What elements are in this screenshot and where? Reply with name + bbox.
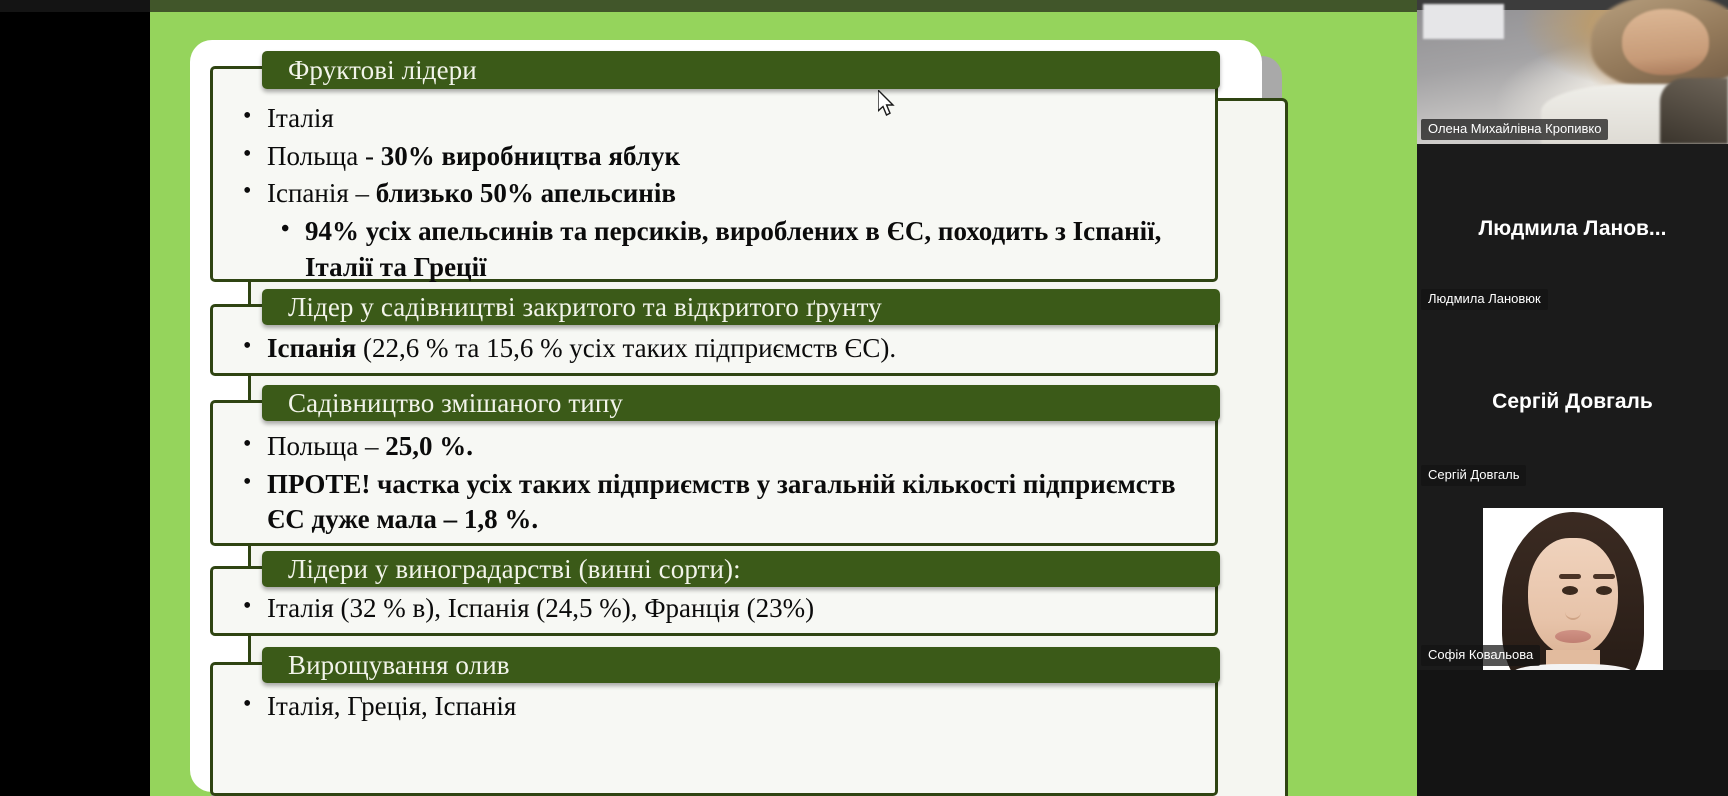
section-heading-band-1: Фруктові лідери (262, 51, 1220, 89)
video-tile-4[interactable]: Софія Ковальова (1417, 490, 1728, 670)
section-heading-label: Вирощування олив (288, 652, 510, 679)
list-item: Іспанія (22,6 % та 15,6 % усіх таких під… (233, 331, 1197, 367)
participant-name-label: Сергій Довгаль (1421, 465, 1526, 486)
bullet-list-3: Польща – 25,0 %. ПРОТЕ! частка усіх таки… (233, 429, 1197, 538)
section-heading-band-5: Вирощування олив (262, 647, 1220, 683)
participant-name-label: Людмила Лановюк (1421, 289, 1548, 310)
section-body-1: Італія Польща - 30% виробництва яблук Іс… (210, 66, 1218, 282)
left-black-gutter (0, 0, 150, 796)
section-heading-band-4: Лідери у виноградарстві (винні сорти): (262, 551, 1220, 587)
screen-root: Італія Польща - 30% виробництва яблук Іс… (0, 0, 1728, 796)
video-participant-rail: Олена Михайлівна Кропивко Людмила Ланов.… (1417, 0, 1728, 796)
section-heading-band-2: Лідер у садівництві закритого та відкрит… (262, 289, 1220, 325)
avatar-eye-left (1562, 586, 1578, 595)
list-item: ПРОТЕ! частка усіх таких підприємств у з… (233, 467, 1197, 538)
section-heading-label: Лідер у садівництві закритого та відкрит… (288, 294, 882, 321)
video-tile-3[interactable]: Сергій Довгаль Сергій Довгаль (1417, 314, 1728, 490)
bullet-list-1: Італія Польща - 30% виробництва яблук Іс… (233, 101, 1197, 285)
video-tile-1[interactable]: Олена Михайлівна Кропивко (1417, 0, 1728, 144)
list-item: Італія (233, 101, 1197, 137)
list-item: Іспанія – близько 50% апельсинів (233, 176, 1197, 212)
participant-name-label: Олена Михайлівна Кропивко (1421, 119, 1608, 140)
section-heading-label: Фруктові лідери (288, 57, 477, 84)
avatar-eyebrow-right (1593, 574, 1615, 579)
slide-content-blocks: Італія Польща - 30% виробництва яблук Іс… (150, 0, 1417, 796)
left-gutter-top-strip (0, 0, 150, 12)
list-item: Польща - 30% виробництва яблук (233, 139, 1197, 175)
video-tile-5-empty[interactable] (1417, 670, 1728, 796)
person-face-shape (1622, 9, 1709, 75)
section-body-3: Польща – 25,0 %. ПРОТЕ! частка усіх таки… (210, 400, 1218, 546)
section-heading-band-3: Садівництво змішаного типу (262, 385, 1220, 421)
video-tile-2[interactable]: Людмила Ланов... Людмила Лановюк (1417, 144, 1728, 314)
section-heading-label: Садівництво змішаного типу (288, 390, 623, 417)
background-frame-shape (1423, 4, 1504, 39)
list-item: Польща – 25,0 %. (233, 429, 1197, 465)
list-item: Італія, Греція, Іспанія (233, 689, 1197, 725)
bullet-list-2: Іспанія (22,6 % та 15,6 % усіх таких під… (233, 331, 1197, 367)
section-heading-label: Лідери у виноградарстві (винні сорти): (288, 556, 741, 583)
participant-big-name: Сергій Довгаль (1417, 390, 1728, 414)
bullet-list-4: Італія (32 % в), Іспанія (24,5 %), Франц… (233, 591, 1197, 627)
avatar-mouth-shape (1555, 630, 1591, 643)
person-dark-shape (1660, 78, 1728, 144)
avatar-eyebrow-left (1559, 574, 1581, 579)
avatar-nose-shape (1565, 604, 1581, 620)
bullet-list-5: Італія, Греція, Іспанія (233, 689, 1197, 725)
participant-big-name: Людмила Ланов... (1417, 217, 1728, 241)
list-item: Італія (32 % в), Іспанія (24,5 %), Франц… (233, 591, 1197, 627)
list-item: 94% усіх апельсинів та персиків, виробле… (233, 214, 1197, 285)
participant-name-label: Софія Ковальова (1421, 645, 1540, 666)
avatar-eye-right (1596, 586, 1612, 595)
